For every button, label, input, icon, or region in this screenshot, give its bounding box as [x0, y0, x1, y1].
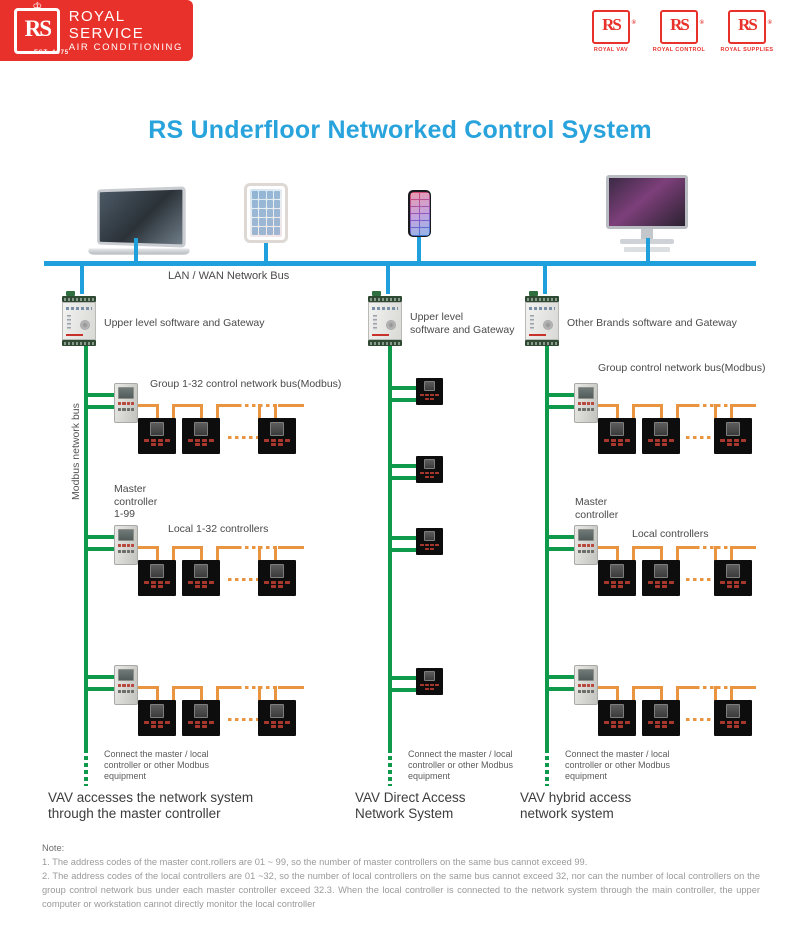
- local-controller: [642, 560, 680, 596]
- brand-line-1: ROYAL SERVICE: [69, 8, 193, 42]
- local-controller: [642, 700, 680, 736]
- lan-wan-network-bus: [44, 261, 756, 266]
- group-bus-seg: [172, 404, 202, 407]
- local-controller: [258, 418, 296, 454]
- lan-drop-gateway-1: [80, 266, 84, 294]
- note-line-2: 2. The address codes of the local contro…: [42, 869, 760, 911]
- group-bus-seg: [138, 546, 158, 549]
- brand-header: ♔ RS ROYAL SERVICE AIR CONDITIONING EST.…: [0, 0, 193, 61]
- group-bus-seg: [676, 546, 698, 549]
- trademark-icon: ®: [700, 10, 702, 36]
- group-bus-seg: [598, 404, 618, 407]
- note-line-1: 1. The address codes of the master cont.…: [42, 855, 760, 869]
- local-controller: [138, 560, 176, 596]
- royal-vav-mark: RS®: [592, 10, 630, 44]
- modbus-branch-2a: [84, 535, 116, 539]
- local-controller: [258, 560, 296, 596]
- master-controller-label-1: Master controller 1-99: [114, 483, 157, 521]
- modbus-branch-3-3b: [545, 687, 577, 691]
- trademark-icon: ®: [768, 10, 770, 36]
- master-controller-5: [574, 525, 598, 565]
- modbus-branch-3-2a: [545, 535, 577, 539]
- group-bus-seg: [216, 404, 240, 407]
- connect-note-2: Connect the master / local controller or…: [408, 749, 513, 782]
- sub-logo-monogram: RS: [602, 15, 620, 34]
- crown-icon: ♔: [32, 2, 42, 13]
- master-controller-1: [114, 383, 138, 423]
- sub-logo-monogram: RS: [738, 15, 756, 34]
- gateway-label-3: Other Brands software and Gateway: [567, 317, 737, 330]
- modbus-trunk-dashed-2: [388, 742, 392, 786]
- sub-logo-royal-control: RS® ROYAL CONTROL: [652, 10, 706, 53]
- local-controller: [182, 700, 220, 736]
- group-bus-seg: [734, 546, 756, 549]
- group-bus-seg: [632, 404, 662, 407]
- lan-drop-tablet: [264, 243, 268, 262]
- local-controller-direct: [416, 378, 443, 405]
- note-block: Note: 1. The address codes of the master…: [42, 841, 760, 911]
- group-bus-seg: [278, 546, 304, 549]
- modbus-network-bus-label: Modbus network bus: [70, 403, 82, 500]
- modbus-branch-3-1a: [545, 393, 577, 397]
- local-controller: [598, 560, 636, 596]
- local-controller: [714, 560, 752, 596]
- group-bus-seg: [676, 404, 698, 407]
- group-bus-label-1: Group 1-32 control network bus(Modbus): [150, 378, 341, 391]
- group-bus-seg: [598, 686, 618, 689]
- local-controller: [598, 700, 636, 736]
- sub-brand-logos: RS® ROYAL VAV RS® ROYAL CONTROL RS® ROYA…: [584, 10, 774, 53]
- local-controller: [182, 418, 220, 454]
- connect-note-1: Connect the master / local controller or…: [104, 749, 209, 782]
- lan-bus-label: LAN / WAN Network Bus: [168, 270, 289, 283]
- group-bus-seg: [676, 686, 698, 689]
- master-controller-3: [114, 665, 138, 705]
- laptop-icon: [94, 188, 190, 256]
- group-bus-seg: [138, 686, 158, 689]
- gateway-device-3: [525, 296, 559, 346]
- sub-logo-caption: ROYAL CONTROL: [652, 47, 706, 53]
- group-bus-seg: [216, 546, 240, 549]
- modbus-branch-3a: [84, 675, 116, 679]
- modbus-trunk-dashed-1: [84, 742, 88, 786]
- modbus-branch-2b: [84, 547, 116, 551]
- modbus-branch-3-2b: [545, 547, 577, 551]
- lan-drop-gateway-3: [543, 266, 547, 294]
- column-caption-2: VAV Direct Access Network System: [355, 790, 466, 822]
- trademark-icon: ®: [632, 10, 634, 36]
- page-title: RS Underfloor Networked Control System: [0, 116, 800, 145]
- local-controller: [714, 700, 752, 736]
- royal-supplies-mark: RS®: [728, 10, 766, 44]
- local-controller: [182, 560, 220, 596]
- sub-logo-royal-supplies: RS® ROYAL SUPPLIES: [720, 10, 774, 53]
- lan-drop-desktop: [646, 238, 650, 262]
- modbus-branch-3-1b: [545, 405, 577, 409]
- note-heading: Note:: [42, 841, 760, 855]
- local-controllers-label-3: Local controllers: [632, 528, 708, 541]
- local-controller: [138, 418, 176, 454]
- modbus-branch-1a: [84, 393, 116, 397]
- sub-logo-caption: ROYAL SUPPLIES: [720, 47, 774, 53]
- sub-logo-caption: ROYAL VAV: [584, 47, 638, 53]
- connect-note-3: Connect the master / local controller or…: [565, 749, 670, 782]
- brand-monogram: RS: [14, 8, 60, 54]
- master-controller-2: [114, 525, 138, 565]
- group-bus-seg: [632, 686, 662, 689]
- group-bus-seg: [734, 686, 756, 689]
- group-bus-seg: [216, 686, 240, 689]
- local-controller: [714, 418, 752, 454]
- gateway-device-1: [62, 296, 96, 346]
- column-caption-3: VAV hybrid access network system: [520, 790, 631, 822]
- sub-logo-royal-vav: RS® ROYAL VAV: [584, 10, 638, 53]
- lan-drop-phone: [417, 237, 421, 262]
- brand-line-2: AIR CONDITIONING: [69, 42, 193, 54]
- modbus-branch-3b: [84, 687, 116, 691]
- local-controller: [642, 418, 680, 454]
- local-controller-direct: [416, 528, 443, 555]
- group-bus-label-3: Group control network bus(Modbus): [598, 362, 766, 375]
- master-controller-6: [574, 665, 598, 705]
- local-controller-direct: [416, 456, 443, 483]
- local-controllers-label-1: Local 1-32 controllers: [168, 523, 268, 536]
- local-controller: [598, 418, 636, 454]
- sub-logo-monogram: RS: [670, 15, 688, 34]
- smartphone-icon: [408, 190, 431, 237]
- group-bus-seg: [172, 686, 202, 689]
- group-bus-seg: [632, 546, 662, 549]
- group-bus-seg: [278, 404, 304, 407]
- modbus-branch-1b: [84, 405, 116, 409]
- local-controller: [138, 700, 176, 736]
- gateway-label-1: Upper level software and Gateway: [104, 317, 265, 330]
- brand-established: EST. 1975: [34, 50, 69, 56]
- royal-control-mark: RS®: [660, 10, 698, 44]
- master-controller-label-3: Master controller: [575, 496, 618, 521]
- group-bus-seg: [734, 404, 756, 407]
- local-controller: [258, 700, 296, 736]
- tablet-icon: [244, 183, 288, 243]
- local-controller-direct: [416, 668, 443, 695]
- group-bus-seg: [138, 404, 158, 407]
- modbus-trunk-dashed-3: [545, 742, 549, 786]
- modbus-branch-3-3a: [545, 675, 577, 679]
- gateway-label-2: Upper level software and Gateway: [410, 311, 514, 336]
- lan-drop-gateway-2: [386, 266, 390, 294]
- master-controller-4: [574, 383, 598, 423]
- column-caption-1: VAV accesses the network system through …: [48, 790, 253, 822]
- brand-wordmark: ROYAL SERVICE AIR CONDITIONING: [69, 8, 193, 54]
- group-bus-seg: [598, 546, 618, 549]
- lan-drop-laptop: [134, 238, 138, 262]
- group-bus-seg: [278, 686, 304, 689]
- group-bus-seg: [172, 546, 202, 549]
- gateway-device-2: [368, 296, 402, 346]
